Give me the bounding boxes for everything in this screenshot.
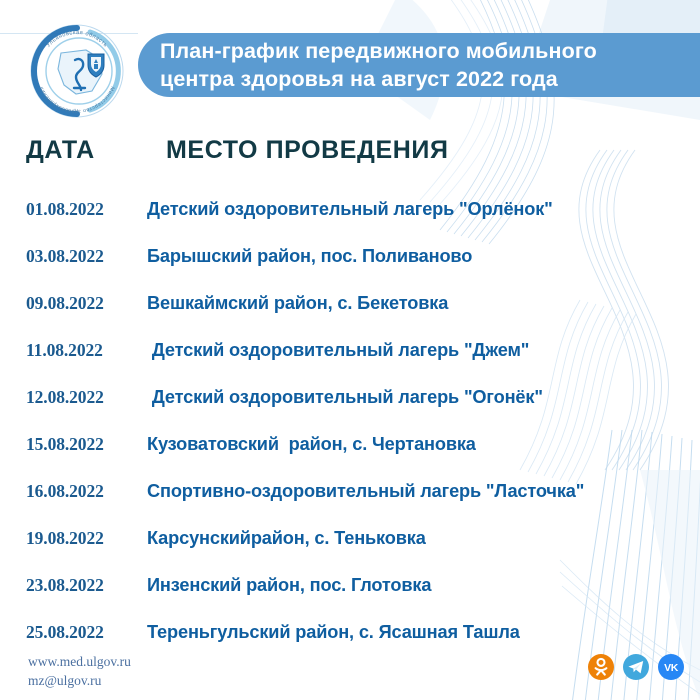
row-place: Кузоватовский район, с. Чертановка <box>147 434 476 455</box>
row-place: Детский оздоровительный лагерь "Огонёк" <box>147 387 543 408</box>
row-place: Вешкаймский район, с. Бекетовка <box>147 293 448 314</box>
table-row: 01.08.2022 Детский оздоровительный лагер… <box>0 186 700 233</box>
table-row: 16.08.2022 Спортивно-оздоровительный лаг… <box>0 468 700 515</box>
table-row: 23.08.2022 Инзенский район, пос. Глотовк… <box>0 562 700 609</box>
row-place: Спортивно-оздоровительный лагерь "Ласточ… <box>147 481 584 502</box>
table-row: 15.08.2022 Кузоватовский район, с. Черта… <box>0 421 700 468</box>
table-row: 12.08.2022 Детский оздоровительный лагер… <box>0 374 700 421</box>
website-link[interactable]: www.med.ulgov.ru <box>28 652 131 671</box>
title-banner: План-график передвижного мобильного цент… <box>138 33 700 97</box>
row-place: Инзенский район, пос. Глотовка <box>147 575 431 596</box>
table-row: 09.08.2022 Вешкаймский район, с. Бекетов… <box>0 280 700 327</box>
row-place: Тереньгульский район, с. Ясашная Ташла <box>147 622 520 643</box>
table-row: 19.08.2022 Карсунскийрайон, с. Теньковка <box>0 515 700 562</box>
email-link[interactable]: mz@ulgov.ru <box>28 671 131 690</box>
row-date: 12.08.2022 <box>26 387 150 408</box>
row-date: 11.08.2022 <box>26 340 150 361</box>
vk-icon[interactable]: VK <box>658 654 684 680</box>
telegram-icon[interactable] <box>623 654 649 680</box>
table-row: 11.08.2022 Детский оздоровительный лагер… <box>0 327 700 374</box>
social-links: VK <box>588 654 684 680</box>
poster-canvas: Ульяновская область Министерство здравоо… <box>0 0 700 700</box>
row-date: 15.08.2022 <box>26 434 150 455</box>
table-row: 03.08.2022 Барышский район, пос. Поливан… <box>0 233 700 280</box>
schedule-table: 01.08.2022 Детский оздоровительный лагер… <box>0 186 700 656</box>
column-header-date: ДАТА <box>26 136 95 165</box>
row-date: 25.08.2022 <box>26 622 150 643</box>
odnoklassniki-icon[interactable] <box>588 654 614 680</box>
svg-text:VK: VK <box>664 662 679 674</box>
table-row: 25.08.2022 Тереньгульский район, с. Ясаш… <box>0 609 700 656</box>
ministry-logo-icon: Ульяновская область Министерство здравоо… <box>28 22 126 120</box>
row-date: 03.08.2022 <box>26 246 150 267</box>
column-header-place: МЕСТО ПРОВЕДЕНИЯ <box>166 136 449 165</box>
row-place: Детский оздоровительный лагерь "Джем" <box>147 340 529 361</box>
row-date: 16.08.2022 <box>26 481 150 502</box>
poster-footer: www.med.ulgov.ru mz@ulgov.ru <box>0 652 700 700</box>
table-column-headers: ДАТА МЕСТО ПРОВЕДЕНИЯ <box>0 136 700 176</box>
row-place: Карсунскийрайон, с. Теньковка <box>147 528 426 549</box>
row-place: Детский оздоровительный лагерь "Орлёнок" <box>147 199 553 220</box>
row-date: 19.08.2022 <box>26 528 150 549</box>
contact-links: www.med.ulgov.ru mz@ulgov.ru <box>28 652 131 690</box>
row-date: 23.08.2022 <box>26 575 150 596</box>
row-date: 01.08.2022 <box>26 199 150 220</box>
row-date: 09.08.2022 <box>26 293 150 314</box>
poster-header: Ульяновская область Министерство здравоо… <box>0 0 700 122</box>
row-place: Барышский район, пос. Поливаново <box>147 246 472 267</box>
poster-title: План-график передвижного мобильного цент… <box>138 37 607 94</box>
